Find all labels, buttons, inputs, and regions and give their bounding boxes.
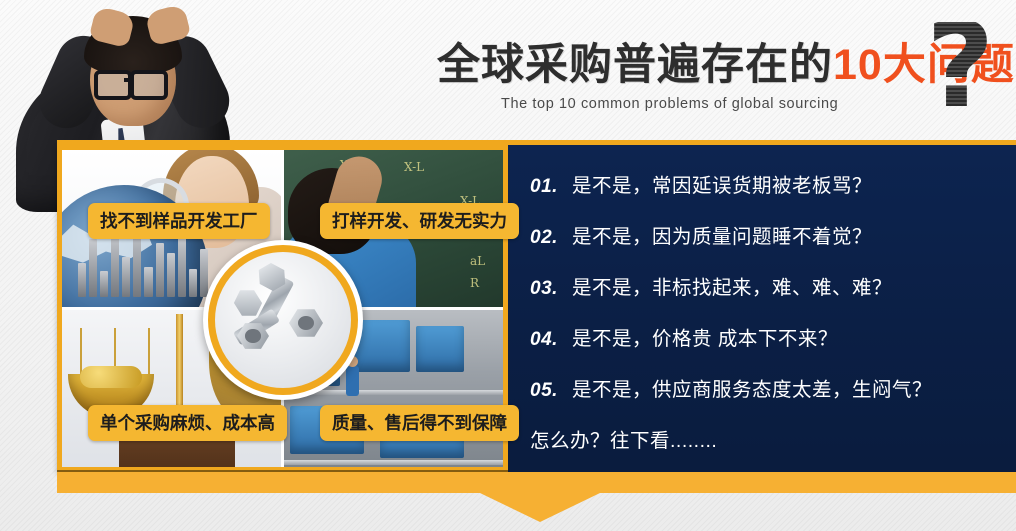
scroll-down-arrow-icon [480, 493, 600, 522]
orange-top-rule [57, 140, 1016, 145]
bolts-illustration [223, 260, 343, 380]
list-item-label: 是不是，常因延误货期被老板骂？ [572, 169, 872, 198]
caption-bottom-right: 质量、售后得不到保障 [320, 405, 519, 441]
glasses-left-lens-icon [94, 70, 132, 100]
page-subtitle: The top 10 common problems of global sou… [501, 96, 957, 112]
title-block: 全球采购普遍存在的10大问题 The top 10 common problem… [437, 44, 957, 112]
list-item-number: 01. [530, 176, 572, 198]
problems-list: 01. 是不是，常因延误货期被老板骂？ 02. 是不是，因为质量问题睡不着觉？ … [530, 169, 1006, 453]
list-item-number: 03. [530, 278, 572, 300]
list-item-label: 是不是，价格贵 成本下不来？ [572, 322, 838, 351]
question-mark-glyph: ? [926, 22, 994, 108]
hex-nut [289, 308, 323, 338]
glasses-right-lens-icon [130, 70, 168, 100]
closing-line: 怎么办？往下看........ [530, 424, 1006, 453]
list-item: 01. 是不是，常因延误货期被老板骂？ [530, 169, 1006, 198]
header-band: 全球采购普遍存在的10大问题 The top 10 common problem… [0, 0, 1016, 146]
rail-shape [284, 460, 503, 465]
question-mark-icon: ? [922, 22, 1008, 134]
list-item-label: 是不是，供应商服务态度太差，生闷气？ [572, 373, 932, 402]
caption-top-right: 打样开发、研发无实力 [320, 203, 519, 239]
list-item: 05. 是不是，供应商服务态度太差，生闷气？ [530, 373, 1006, 402]
list-item-number: 04. [530, 329, 572, 351]
list-item-number: 02. [530, 227, 572, 249]
scale-chain-right [148, 328, 150, 376]
poster-canvas: 全球采购普遍存在的10大问题 The top 10 common problem… [0, 0, 1016, 531]
machine-shape [416, 326, 464, 372]
list-item-number: 05. [530, 380, 572, 402]
orange-bottom-bar [57, 472, 1016, 493]
bolts-and-nuts-badge [203, 240, 363, 400]
list-item: 03. 是不是，非标找起来，难、难、难？ [530, 271, 1006, 300]
list-item: 02. 是不是，因为质量问题睡不着觉？ [530, 220, 1006, 249]
title-main-text: 全球采购普遍存在的 [437, 41, 833, 89]
list-item-label: 是不是，因为质量问题睡不着觉？ [572, 220, 872, 249]
problems-list-panel: 01. 是不是，常因延误货期被老板骂？ 02. 是不是，因为质量问题睡不着觉？ … [508, 145, 1016, 472]
gold-nuggets-shape [80, 366, 142, 388]
badge-ring [208, 245, 358, 395]
list-item-label: 是不是，非标找起来，难、难、难？ [572, 271, 892, 300]
page-title: 全球采购普遍存在的10大问题 [437, 44, 957, 87]
worker-body-shape [346, 366, 359, 396]
caption-top-left: 找不到样品开发工厂 [88, 203, 270, 239]
list-item: 04. 是不是，价格贵 成本下不来？ [530, 322, 1006, 351]
glasses-bridge-icon [124, 78, 132, 82]
caption-bottom-left: 单个采购麻烦、成本高 [88, 405, 287, 441]
